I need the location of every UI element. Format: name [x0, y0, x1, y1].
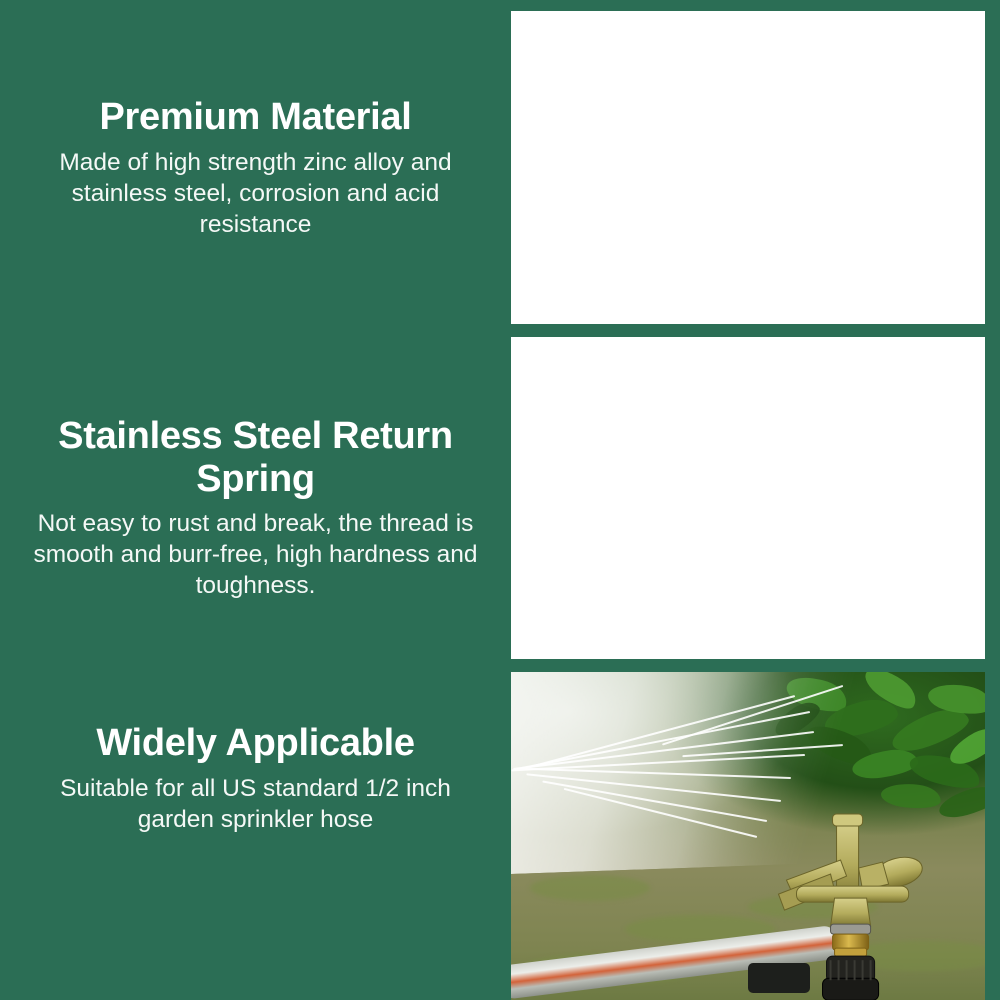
feature-title: Stainless Steel Return Spring	[10, 415, 501, 500]
feature-description: Suitable for all US standard 1/2 inch ga…	[10, 773, 501, 835]
feature-description: Not easy to rust and break, the thread i…	[10, 508, 501, 601]
grass-tuft	[530, 875, 650, 901]
feature-block-premium-material: Premium Material Made of high strength z…	[10, 96, 501, 240]
garden-scene	[511, 672, 985, 1000]
hose-coupler	[748, 963, 810, 993]
impact-sprinkler-head-product-photo	[511, 11, 985, 324]
feature-image-panel-widely-applicable	[511, 672, 985, 1000]
sprinkler-in-use-garden-photo	[511, 672, 985, 1000]
feature-title: Premium Material	[10, 96, 501, 139]
feature-description: Made of high strength zinc alloy and sta…	[10, 147, 501, 240]
feature-image-panel-premium-material	[511, 11, 985, 324]
feature-title: Widely Applicable	[10, 722, 501, 765]
bush-leaf	[935, 782, 985, 822]
feature-text-column: Premium Material Made of high strength z…	[0, 0, 511, 1000]
feature-block-stainless-steel-return-spring: Stainless Steel Return Spring Not easy t…	[10, 415, 501, 601]
feature-image-panel-return-spring	[511, 337, 985, 659]
return-spring-closeup-photo	[511, 337, 985, 659]
infographic-page: Premium Material Made of high strength z…	[0, 0, 1000, 1000]
feature-block-widely-applicable: Widely Applicable Suitable for all US st…	[10, 722, 501, 835]
bush-leaf	[880, 780, 942, 810]
